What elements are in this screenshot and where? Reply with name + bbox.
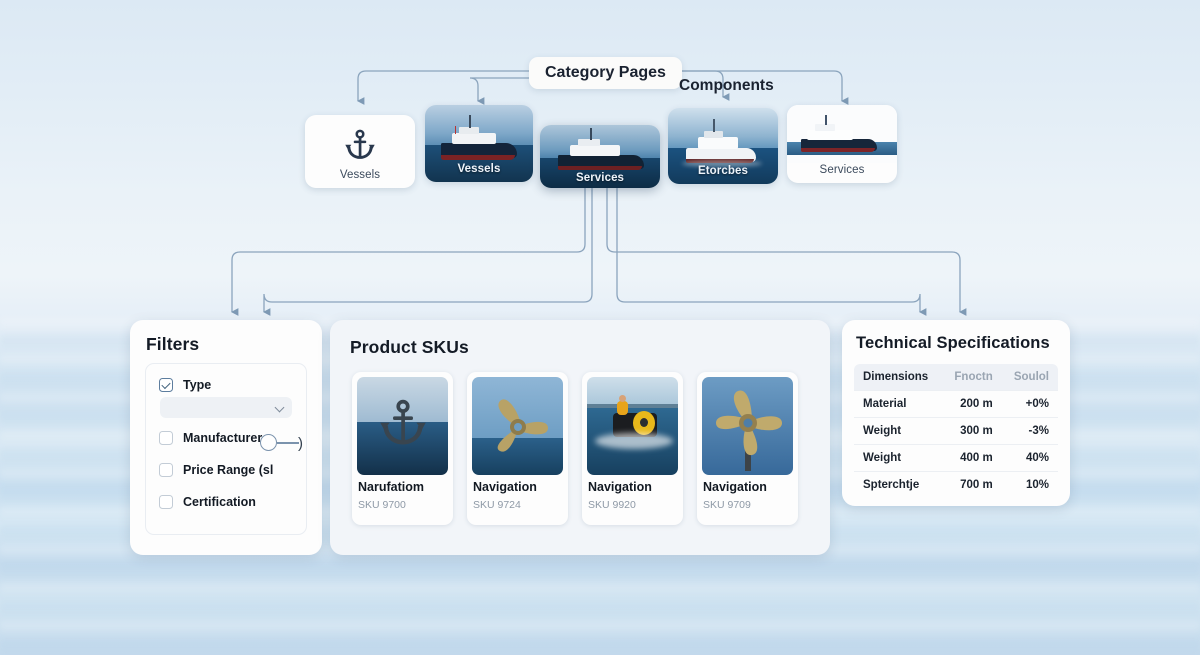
specs-col-soulol: Soulol <box>1002 364 1058 391</box>
spec-delta: +0% <box>1002 391 1058 418</box>
sku-grid: Narufatiom SKU 9700 <box>352 372 798 525</box>
table-row[interactable]: Weight 400 m 40% <box>854 445 1058 472</box>
type-dropdown[interactable] <box>160 397 292 418</box>
spec-delta: 40% <box>1002 445 1058 472</box>
spec-value: 700 m <box>942 472 1002 499</box>
specs-table: Dimensions Fnoctn Soulol Material 200 m … <box>854 364 1058 498</box>
chevron-down-icon <box>275 403 285 413</box>
filter-row-price-range[interactable]: Price Range (sl <box>159 463 273 477</box>
product-skus-title: Product SKUs <box>350 337 469 358</box>
sku-card[interactable]: Narufatiom SKU 9700 <box>352 372 453 525</box>
sku-name: Narufatiom <box>358 480 424 494</box>
checkbox-price-range[interactable] <box>159 463 173 477</box>
propeller-photo <box>702 377 793 475</box>
specs-title: Technical Specifications <box>856 334 1050 353</box>
node-label: Vessels <box>425 163 533 175</box>
filters-title: Filters <box>146 334 199 355</box>
sku-name: Navigation <box>703 480 767 494</box>
spec-value: 400 m <box>942 445 1002 472</box>
node-services-right[interactable]: Services <box>787 105 897 183</box>
spec-label: Spterchtje <box>854 472 942 499</box>
label-category-pages: Category Pages <box>529 57 682 89</box>
sku-code: SKU 9920 <box>588 499 636 511</box>
sku-name: Navigation <box>588 480 652 494</box>
node-label: Services <box>540 172 660 184</box>
spec-delta: 10% <box>1002 472 1058 499</box>
table-row[interactable]: Weight 300 m -3% <box>854 418 1058 445</box>
sku-code: SKU 9724 <box>473 499 521 511</box>
filter-label: Price Range (sl <box>183 463 273 477</box>
filter-label: Certification <box>183 495 256 509</box>
label-components: Components <box>679 77 774 95</box>
filter-row-manufacturer[interactable]: Manufacturer <box>159 431 262 445</box>
spec-value: 200 m <box>942 391 1002 418</box>
filter-row-certification[interactable]: Certification <box>159 495 256 509</box>
propeller-photo <box>472 377 563 475</box>
sku-code: SKU 9700 <box>358 499 406 511</box>
checkbox-type[interactable] <box>159 378 173 392</box>
spec-label: Weight <box>854 445 942 472</box>
sku-card[interactable]: Navigation SKU 9709 <box>697 372 798 525</box>
price-range-slider[interactable]: ) <box>260 434 310 452</box>
spec-label: Material <box>854 391 942 418</box>
slider-knob[interactable] <box>260 434 277 451</box>
technical-specifications-panel: Technical Specifications Dimensions Fnoc… <box>842 320 1070 506</box>
node-label: Services <box>787 164 897 176</box>
node-etorcbes[interactable]: Etorcbes <box>668 108 778 184</box>
filter-label: Manufacturer <box>183 431 262 445</box>
anchor-icon <box>305 129 415 163</box>
specs-col-dimensions: Dimensions <box>854 364 942 391</box>
diagram-canvas: Vessels Vessels Services <box>0 0 1200 655</box>
boat-reel-photo <box>587 377 678 475</box>
node-label: Vessels <box>305 169 415 181</box>
table-row[interactable]: Spterchtje 700 m 10% <box>854 472 1058 499</box>
node-vessels-icon[interactable]: Vessels <box>305 115 415 188</box>
sku-code: SKU 9709 <box>703 499 751 511</box>
specs-header-row: Dimensions Fnoctn Soulol <box>854 364 1058 391</box>
slider-track[interactable] <box>277 442 299 444</box>
table-row[interactable]: Material 200 m +0% <box>854 391 1058 418</box>
sku-name: Navigation <box>473 480 537 494</box>
specs-col-fnoctn: Fnoctn <box>942 364 1002 391</box>
spec-delta: -3% <box>1002 418 1058 445</box>
filter-label: Type <box>183 378 211 392</box>
anchor-photo <box>357 377 448 475</box>
slider-end-paren: ) <box>298 435 303 452</box>
checkbox-manufacturer[interactable] <box>159 431 173 445</box>
filters-body: Type Manufacturer Price Range (sl ) Cer <box>145 363 307 535</box>
spec-value: 300 m <box>942 418 1002 445</box>
product-skus-panel: Product SKUs <box>330 320 830 555</box>
node-label: Etorcbes <box>668 165 778 177</box>
node-vessels-photo[interactable]: Vessels <box>425 105 533 182</box>
checkbox-certification[interactable] <box>159 495 173 509</box>
sku-card[interactable]: Navigation SKU 9920 <box>582 372 683 525</box>
filters-panel: Filters Type Manufacturer Price Range (s… <box>130 320 322 555</box>
ship-photo <box>787 115 897 163</box>
spec-label: Weight <box>854 418 942 445</box>
node-services-main[interactable]: Services <box>540 125 660 188</box>
sku-card[interactable]: Navigation SKU 9724 <box>467 372 568 525</box>
filter-row-type[interactable]: Type <box>159 378 211 392</box>
